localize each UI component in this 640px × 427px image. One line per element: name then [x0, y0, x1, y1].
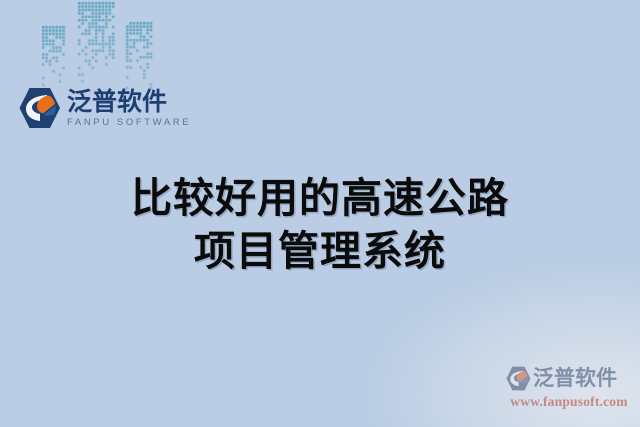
- dotted-skyline-icon: [42, 0, 154, 90]
- brand-text-block: 泛普软件 FANPU SOFTWARE: [67, 89, 191, 128]
- brand-name-en: FANPU SOFTWARE: [67, 117, 191, 128]
- page-title-line-2: 项目管理系统: [0, 225, 640, 278]
- page-title: 比较好用的高速公路 项目管理系统: [0, 172, 640, 278]
- presentation-slide: 泛普软件 FANPU SOFTWARE 比较好用的高速公路 项目管理系统 泛普软…: [0, 0, 640, 427]
- brand-logo: 泛普软件 FANPU SOFTWARE: [17, 87, 191, 129]
- fanpu-hexagon-logo-icon: [17, 87, 61, 129]
- skyline-canvas: [42, 0, 154, 90]
- watermark: 泛普软件 www.fanpusoft.com: [505, 366, 633, 410]
- watermark-url: www.fanpusoft.com: [505, 394, 633, 410]
- brand-name-cn: 泛普软件: [67, 89, 191, 115]
- watermark-name-cn: 泛普软件: [533, 368, 617, 389]
- watermark-logo-row: 泛普软件: [505, 366, 633, 391]
- page-title-line-1: 比较好用的高速公路: [0, 172, 640, 225]
- fanpu-hexagon-logo-icon: [505, 366, 531, 391]
